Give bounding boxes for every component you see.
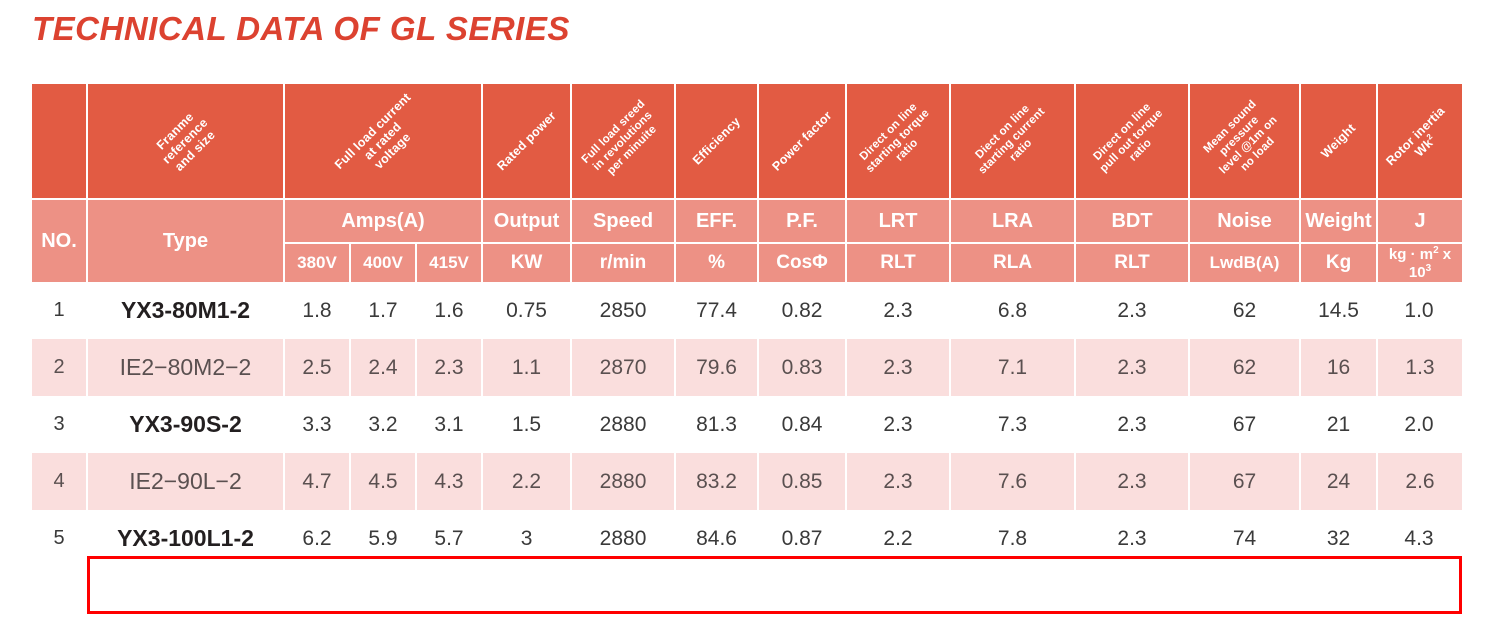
cell-noise: 62	[1190, 339, 1301, 396]
header-noise: Noise	[1190, 198, 1301, 242]
cell-kw: 2.2	[483, 453, 572, 510]
table-row[interactable]: 2 IE2−80M2−2 2.5 2.4 2.3 1.1 2870 79.6 0…	[32, 339, 1462, 396]
cell-a380: 6.2	[285, 510, 351, 567]
cell-inertia: 1.3	[1378, 339, 1462, 396]
cell-no: 5	[32, 510, 88, 567]
cell-speed: 2870	[572, 339, 676, 396]
cell-speed: 2880	[572, 453, 676, 510]
table-row[interactable]: 4 IE2−90L−2 4.7 4.5 4.3 2.2 2880 83.2 0.…	[32, 453, 1462, 510]
cell-inertia: 1.0	[1378, 282, 1462, 339]
cell-speed: 2850	[572, 282, 676, 339]
table-row[interactable]: 5 YX3-100L1-2 6.2 5.9 5.7 3 2880 84.6 0.…	[32, 510, 1462, 567]
header-bdt: BDT	[1076, 198, 1190, 242]
cell-no: 4	[32, 453, 88, 510]
header-400v: 400V	[351, 242, 417, 282]
cell-kw: 0.75	[483, 282, 572, 339]
header-rlt-2: RLT	[1076, 242, 1190, 282]
rotated-label-starting-torque: Direct on line starting torque ratio	[855, 98, 942, 185]
header-rmin: r/min	[572, 242, 676, 282]
rotated-header-cell-weight: Weight	[1301, 84, 1378, 198]
cell-eff: 77.4	[676, 282, 759, 339]
cell-weight: 24	[1301, 453, 1378, 510]
cell-speed: 2880	[572, 396, 676, 453]
cell-noise: 67	[1190, 396, 1301, 453]
rotated-header-cell-rated-power: Rated power	[483, 84, 572, 198]
cell-a415: 3.1	[417, 396, 483, 453]
cell-a415: 4.3	[417, 453, 483, 510]
header-lrt: LRT	[847, 198, 951, 242]
cell-bdt: 2.3	[1076, 339, 1190, 396]
cell-weight: 21	[1301, 396, 1378, 453]
rotated-header-cell-starting-current: Diect on line starting current ratio	[951, 84, 1076, 198]
rotated-label-frame: Franme reference and size	[150, 106, 221, 177]
cell-lra: 6.8	[951, 282, 1076, 339]
cell-a400: 2.4	[351, 339, 417, 396]
header-415v: 415V	[417, 242, 483, 282]
rotated-label-starting-current: Diect on line starting current ratio	[968, 96, 1058, 186]
cell-lrt: 2.3	[847, 339, 951, 396]
cell-a380: 2.5	[285, 339, 351, 396]
cell-a380: 3.3	[285, 396, 351, 453]
cell-a400: 1.7	[351, 282, 417, 339]
cell-a380: 4.7	[285, 453, 351, 510]
technical-data-table: Franme reference and size Full load curr…	[32, 84, 1462, 567]
cell-inertia: 4.3	[1378, 510, 1462, 567]
cell-lrt: 2.3	[847, 453, 951, 510]
cell-bdt: 2.3	[1076, 453, 1190, 510]
page-title: TECHNICAL DATA OF GL SERIES	[32, 10, 570, 48]
rotated-header-cell-starting-torque: Direct on line starting torque ratio	[847, 84, 951, 198]
header-cos-phi: CosΦ	[759, 242, 847, 282]
cell-kw: 1.5	[483, 396, 572, 453]
cell-eff: 81.3	[676, 396, 759, 453]
header-lwdb: LwdB(A)	[1190, 242, 1301, 282]
rotated-label-rated-power: Rated power	[494, 109, 559, 174]
cell-lra: 7.8	[951, 510, 1076, 567]
cell-noise: 74	[1190, 510, 1301, 567]
inertia-unit-sup-3: 3	[1426, 263, 1432, 274]
cell-a400: 4.5	[351, 453, 417, 510]
cell-a380: 1.8	[285, 282, 351, 339]
cell-type: YX3-80M1-2	[88, 282, 285, 339]
cell-weight: 14.5	[1301, 282, 1378, 339]
cell-type: YX3-90S-2	[88, 396, 285, 453]
table-row[interactable]: 3 YX3-90S-2 3.3 3.2 3.1 1.5 2880 81.3 0.…	[32, 396, 1462, 453]
cell-lra: 7.3	[951, 396, 1076, 453]
cell-pf: 0.84	[759, 396, 847, 453]
cell-weight: 32	[1301, 510, 1378, 567]
rotated-header-row: Franme reference and size Full load curr…	[32, 84, 1462, 198]
rotated-header-cell-rotor-inertia: Rotor inertia Wk2	[1378, 84, 1462, 198]
cell-eff: 83.2	[676, 453, 759, 510]
cell-bdt: 2.3	[1076, 396, 1190, 453]
cell-a415: 2.3	[417, 339, 483, 396]
cell-pf: 0.82	[759, 282, 847, 339]
rotated-label-weight: Weight	[1318, 121, 1358, 161]
rotated-header-cell-full-load-current: Full load current at rated voltage	[285, 84, 483, 198]
cell-lra: 7.1	[951, 339, 1076, 396]
inertia-unit-base: kg · m	[1389, 246, 1433, 263]
header-no: NO.	[32, 198, 88, 282]
cell-a415: 1.6	[417, 282, 483, 339]
header-rlt: RLT	[847, 242, 951, 282]
cell-no: 1	[32, 282, 88, 339]
cell-inertia: 2.0	[1378, 396, 1462, 453]
header-pf: P.F.	[759, 198, 847, 242]
header-kg: Kg	[1301, 242, 1378, 282]
cell-inertia: 2.6	[1378, 453, 1462, 510]
cell-kw: 3	[483, 510, 572, 567]
header-weight: Weight	[1301, 198, 1378, 242]
header-inertia-unit: kg · m2 x 103	[1378, 242, 1462, 282]
cell-speed: 2880	[572, 510, 676, 567]
header-type: Type	[88, 198, 285, 282]
cell-bdt: 2.3	[1076, 282, 1190, 339]
cell-eff: 79.6	[676, 339, 759, 396]
header-output: Output	[483, 198, 572, 242]
rotated-header-cell-mean-sound-pressure: Mean sound pressure level @1m on no load	[1190, 84, 1301, 198]
cell-noise: 62	[1190, 282, 1301, 339]
header-380v: 380V	[285, 242, 351, 282]
header-row-2: NO. Type Amps(A) Output Speed EFF. P.F. …	[32, 198, 1462, 242]
rotated-label-full-load-current: Full load current at rated voltage	[332, 90, 433, 191]
header-j: J	[1378, 198, 1462, 242]
cell-pf: 0.83	[759, 339, 847, 396]
cell-lrt: 2.3	[847, 282, 951, 339]
header-rla: RLA	[951, 242, 1076, 282]
header-kw: KW	[483, 242, 572, 282]
rotated-header-cell-no	[32, 84, 88, 198]
rotated-label-rotor-inertia: Rotor inertia Wk	[1383, 104, 1447, 168]
rotated-label-mean-sound-pressure: Mean sound pressure level @1m on no load	[1199, 96, 1289, 186]
cell-type: IE2−80M2−2	[88, 339, 285, 396]
cell-lrt: 2.3	[847, 396, 951, 453]
cell-type: IE2−90L−2	[88, 453, 285, 510]
cell-kw: 1.1	[483, 339, 572, 396]
rotated-label-power-factor: Power factor	[769, 108, 834, 173]
header-eff: EFF.	[676, 198, 759, 242]
rotated-label-efficiency: Efficiency	[690, 114, 743, 167]
rotated-label-pull-out-torque: Direct on line pull out torque ratio	[1089, 98, 1175, 184]
cell-bdt: 2.3	[1076, 510, 1190, 567]
cell-a415: 5.7	[417, 510, 483, 567]
cell-no: 2	[32, 339, 88, 396]
cell-lra: 7.6	[951, 453, 1076, 510]
rotated-header-cell-pull-out-torque: Direct on line pull out torque ratio	[1076, 84, 1190, 198]
cell-no: 3	[32, 396, 88, 453]
header-lra: LRA	[951, 198, 1076, 242]
rotated-label-full-load-speed: Full load sreed in revolutions per minui…	[580, 98, 667, 185]
header-speed: Speed	[572, 198, 676, 242]
rotated-header-cell-full-load-speed: Full load sreed in revolutions per minui…	[572, 84, 676, 198]
cell-a400: 3.2	[351, 396, 417, 453]
page-root: TECHNICAL DATA OF GL SERIES Franme refer…	[0, 0, 1496, 620]
cell-noise: 67	[1190, 453, 1301, 510]
cell-eff: 84.6	[676, 510, 759, 567]
cell-a400: 5.9	[351, 510, 417, 567]
cell-type: YX3-100L1-2	[88, 510, 285, 567]
header-amps: Amps(A)	[285, 198, 483, 242]
cell-pf: 0.85	[759, 453, 847, 510]
header-percent: %	[676, 242, 759, 282]
rotated-header-cell-efficiency: Efficiency	[676, 84, 759, 198]
table-row[interactable]: 1 YX3-80M1-2 1.8 1.7 1.6 0.75 2850 77.4 …	[32, 282, 1462, 339]
rotated-header-cell-power-factor: Power factor	[759, 84, 847, 198]
cell-pf: 0.87	[759, 510, 847, 567]
rotated-header-cell-frame: Franme reference and size	[88, 84, 285, 198]
cell-weight: 16	[1301, 339, 1378, 396]
cell-lrt: 2.2	[847, 510, 951, 567]
